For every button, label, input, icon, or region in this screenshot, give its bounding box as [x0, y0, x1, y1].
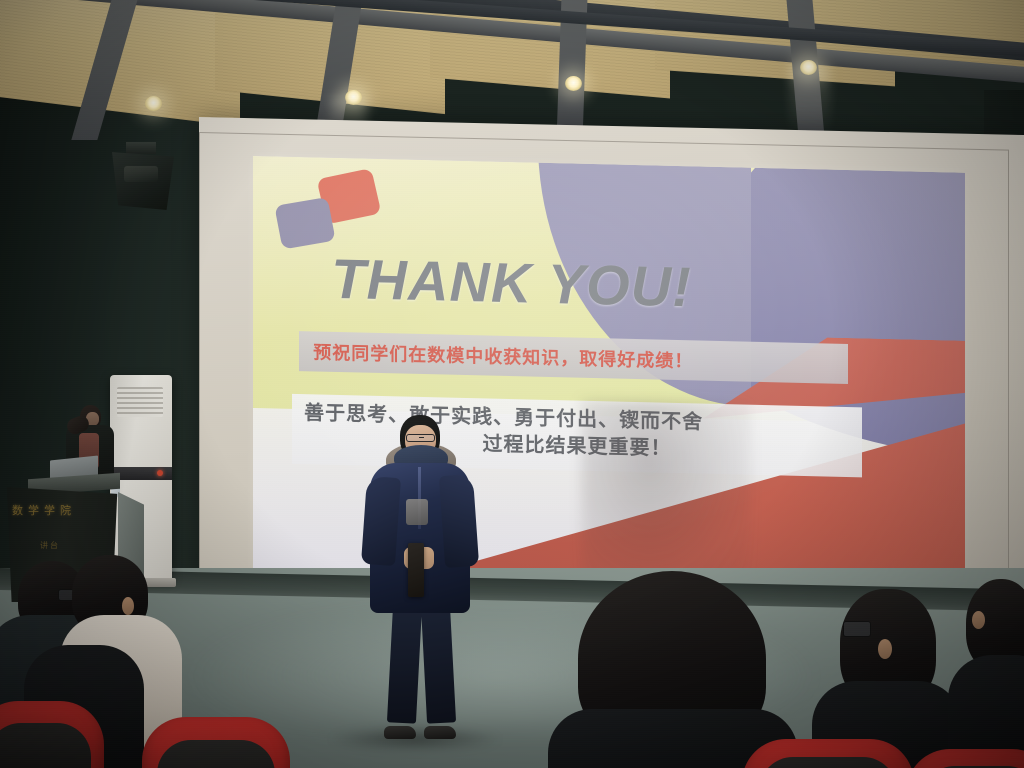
lecture-hall-scene: THANK YOU! 预祝同学们在数模中收获知识，取得好成绩！ 善于思考、敢于实…	[0, 0, 1024, 768]
auditorium-seat[interactable]	[0, 701, 104, 768]
seat-headrest-pad	[759, 757, 897, 768]
audience-ear	[878, 639, 892, 659]
presentation-slide: THANK YOU! 预祝同学们在数模中收获知识，取得好成绩！ 善于思考、敢于实…	[253, 156, 965, 593]
seat-headrest-pad	[0, 723, 91, 768]
audience-area	[0, 553, 1024, 768]
ac-vent-grille	[117, 387, 163, 417]
ac-power-led	[157, 470, 163, 476]
slide-banner-text: 预祝同学们在数模中收获知识，取得好成绩！	[313, 339, 833, 377]
audience-ear	[972, 611, 985, 629]
glasses-icon	[843, 621, 871, 637]
presenter-arm-right	[439, 474, 479, 568]
ceiling-downlight	[565, 76, 582, 91]
ceiling-downlight	[145, 96, 162, 111]
presenter-legs	[386, 605, 456, 733]
presenter-held-notebook	[408, 543, 424, 597]
decor-square-purple	[274, 197, 335, 249]
podium-sublabel: 讲台	[40, 540, 60, 551]
projection-screen: THANK YOU! 预祝同学们在数模中收获知识，取得好成绩！ 善于思考、敢于实…	[253, 156, 965, 593]
light-beam	[790, 66, 830, 136]
presenter-arm-left	[361, 476, 401, 566]
wall-speaker	[112, 152, 174, 210]
podium-label: 数学学院	[12, 502, 108, 518]
seat-headrest-pad	[157, 740, 275, 768]
presenter-coat-emblem	[406, 499, 428, 525]
auditorium-seat[interactable]	[742, 739, 914, 768]
presenter-leg-left	[387, 604, 422, 723]
presenter-leg-right	[421, 604, 456, 723]
audience-ear	[122, 597, 134, 615]
auditorium-seat[interactable]	[142, 717, 290, 768]
presenter-shoe-right	[424, 726, 456, 739]
speaker-cone	[124, 166, 158, 182]
presenter-shoe-left	[384, 726, 416, 739]
speaker-bracket	[126, 142, 156, 154]
glasses-icon	[406, 434, 435, 442]
slide-title: THANK YOU!	[331, 246, 692, 319]
